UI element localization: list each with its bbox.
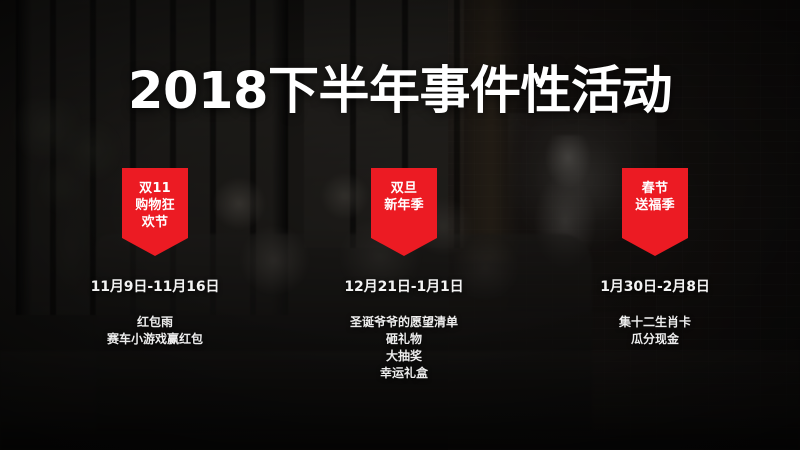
campaign-columns: 双11 购物狂 欢节 11月9日-11月16日 红包雨 赛车小游戏赢红包 双旦 … — [0, 168, 800, 428]
list-item: 赛车小游戏赢红包 — [55, 331, 255, 348]
page-title: 2018下半年事件性活动 — [0, 60, 800, 124]
campaign-column: 双旦 新年季 12月21日-1月1日 圣诞爷爷的愿望清单 砸礼物 大抽奖 幸运礼… — [304, 168, 504, 382]
list-item: 砸礼物 — [304, 331, 504, 348]
campaign-activity-list: 红包雨 赛车小游戏赢红包 — [55, 314, 255, 348]
campaign-activity-list: 圣诞爷爷的愿望清单 砸礼物 大抽奖 幸运礼盒 — [304, 314, 504, 382]
list-item: 红包雨 — [55, 314, 255, 331]
campaign-column: 春节 送福季 1月30日-2月8日 集十二生肖卡 瓜分现金 — [555, 168, 755, 348]
campaign-ribbon-line-3: 欢节 — [135, 214, 175, 231]
campaign-ribbon-line-1: 双旦 — [384, 180, 424, 197]
campaign-date: 11月9日-11月16日 — [55, 278, 255, 296]
campaign-date: 12月21日-1月1日 — [304, 278, 504, 296]
campaign-ribbon-line-1: 双11 — [135, 180, 175, 197]
campaign-ribbon-text: 双旦 新年季 — [384, 180, 424, 214]
campaign-ribbon-badge: 双11 购物狂 欢节 — [122, 168, 188, 256]
campaign-ribbon-line-2: 送福季 — [635, 197, 675, 214]
slide-content: 2018下半年事件性活动 双11 购物狂 欢节 11月9日-11月16日 红包雨… — [0, 0, 800, 450]
campaign-ribbon-line-2: 新年季 — [384, 197, 424, 214]
campaign-column: 双11 购物狂 欢节 11月9日-11月16日 红包雨 赛车小游戏赢红包 — [55, 168, 255, 348]
slide-canvas: 2018下半年事件性活动 双11 购物狂 欢节 11月9日-11月16日 红包雨… — [0, 0, 800, 450]
campaign-ribbon-badge: 双旦 新年季 — [371, 168, 437, 256]
list-item: 大抽奖 — [304, 348, 504, 365]
campaign-ribbon-badge: 春节 送福季 — [622, 168, 688, 256]
campaign-ribbon-line-1: 春节 — [635, 180, 675, 197]
campaign-activity-list: 集十二生肖卡 瓜分现金 — [555, 314, 755, 348]
list-item: 瓜分现金 — [555, 331, 755, 348]
campaign-ribbon-text: 双11 购物狂 欢节 — [135, 180, 175, 231]
list-item: 幸运礼盒 — [304, 365, 504, 382]
campaign-ribbon-text: 春节 送福季 — [635, 180, 675, 214]
list-item: 圣诞爷爷的愿望清单 — [304, 314, 504, 331]
list-item: 集十二生肖卡 — [555, 314, 755, 331]
campaign-ribbon-line-2: 购物狂 — [135, 197, 175, 214]
campaign-date: 1月30日-2月8日 — [555, 278, 755, 296]
